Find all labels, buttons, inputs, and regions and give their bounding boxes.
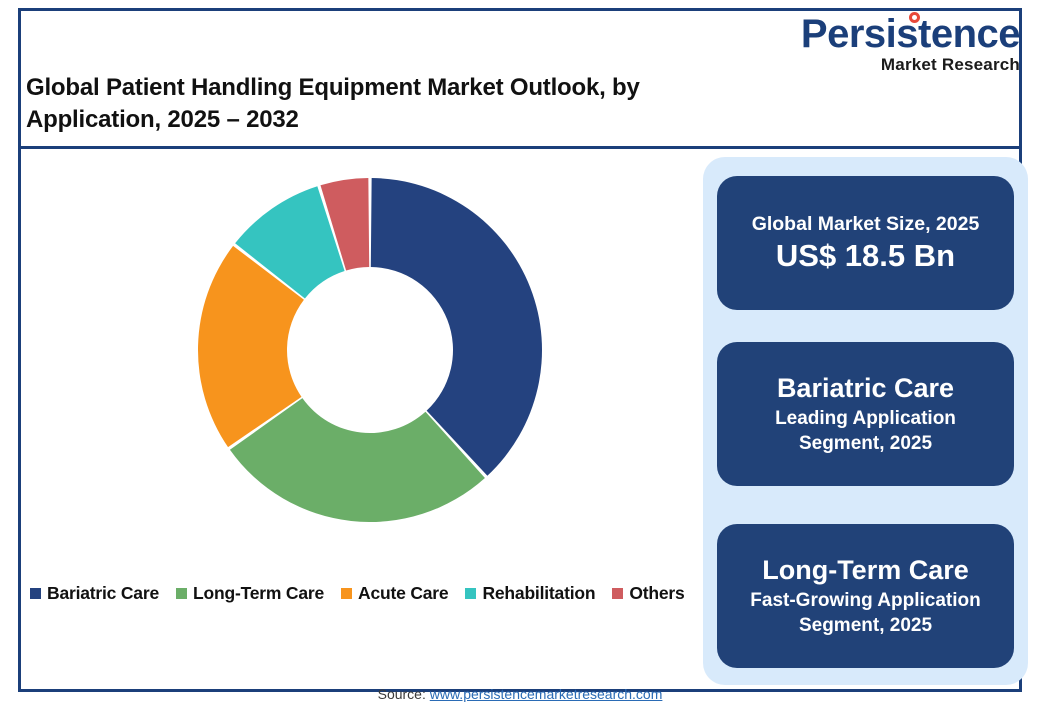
leading-segment-desc-line-1: Leading Application <box>775 406 956 431</box>
legend-item-acute-care[interactable]: Acute Care <box>341 583 448 604</box>
legend-item-others[interactable]: Others <box>612 583 684 604</box>
legend-swatch-icon-bariatric-care <box>30 588 41 599</box>
legend-swatch-icon-acute-care <box>341 588 352 599</box>
legend-swatch-icon-others <box>612 588 623 599</box>
page-title: Global Patient Handling Equipment Market… <box>26 72 716 136</box>
fast-growing-segment-name: Long-Term Care <box>762 554 969 586</box>
legend-label-bariatric-care: Bariatric Care <box>47 583 159 604</box>
registered-dot-icon <box>909 12 920 23</box>
leading-segment-desc-line-2: Segment, 2025 <box>799 431 932 456</box>
highlight-card-fast-growing-segment: Long-Term Care Fast-Growing Application … <box>717 524 1014 668</box>
donut-chart <box>30 155 690 575</box>
legend-swatch-icon-rehabilitation <box>465 588 476 599</box>
source-prefix-label: Source: <box>378 686 430 702</box>
frame-border-top <box>18 8 1022 11</box>
infographic-canvas: Persistence Market Research Global Patie… <box>0 0 1040 720</box>
highlight-card-market-size: Global Market Size, 2025 US$ 18.5 Bn <box>717 176 1014 310</box>
frame-border-left <box>18 8 21 692</box>
fast-growing-segment-desc-line-1: Fast-Growing Application <box>750 588 980 613</box>
donut-slice-group <box>198 178 542 522</box>
legend-label-acute-care: Acute Care <box>358 583 448 604</box>
brand-logo-tagline: Market Research <box>801 56 1020 73</box>
market-size-value: US$ 18.5 Bn <box>776 237 955 274</box>
brand-logo: Persistence Market Research <box>801 14 1020 73</box>
legend-swatch-icon-long-term-care <box>176 588 187 599</box>
donut-chart-svg <box>30 155 690 575</box>
source-website-link[interactable]: www.persistencemarketresearch.com <box>430 686 663 702</box>
legend-item-rehabilitation[interactable]: Rehabilitation <box>465 583 595 604</box>
fast-growing-segment-desc-line-2: Segment, 2025 <box>799 613 932 638</box>
title-divider <box>18 146 1022 149</box>
leading-segment-name: Bariatric Care <box>777 372 954 404</box>
legend-label-long-term-care: Long-Term Care <box>193 583 324 604</box>
legend-label-others: Others <box>629 583 684 604</box>
market-size-label: Global Market Size, 2025 <box>752 212 980 236</box>
highlight-card-leading-segment: Bariatric Care Leading Application Segme… <box>717 342 1014 486</box>
legend-label-rehabilitation: Rehabilitation <box>482 583 595 604</box>
highlights-panel: Global Market Size, 2025 US$ 18.5 Bn Bar… <box>703 157 1028 685</box>
legend-item-long-term-care[interactable]: Long-Term Care <box>176 583 324 604</box>
chart-legend: Bariatric CareLong-Term CareAcute CareRe… <box>30 583 700 604</box>
brand-logo-wordmark: Persistence <box>801 14 1020 54</box>
source-attribution: Source: www.persistencemarketresearch.co… <box>0 686 1040 702</box>
legend-item-bariatric-care[interactable]: Bariatric Care <box>30 583 159 604</box>
